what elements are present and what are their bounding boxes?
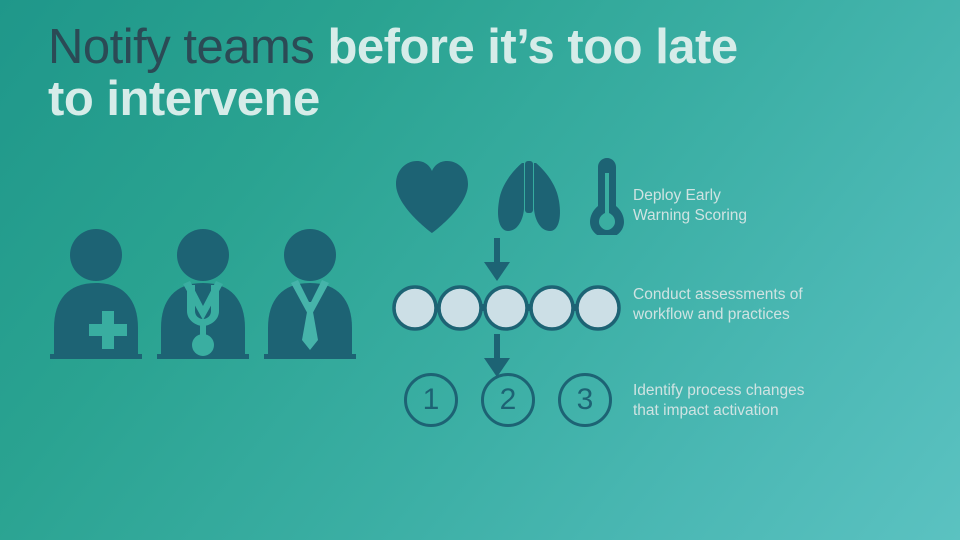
numbered-steps-row: 1 2 3 bbox=[390, 368, 618, 432]
dot-1 bbox=[394, 287, 436, 329]
dot-4 bbox=[531, 287, 573, 329]
care-team-illustration bbox=[48, 228, 358, 358]
person-nurse-icon bbox=[50, 229, 142, 359]
caption-identify-process-changes: Identify process changes that impact act… bbox=[633, 381, 933, 421]
dot-3 bbox=[485, 287, 527, 329]
title-segment-emphasis-dark: Notify teams bbox=[48, 20, 314, 74]
thermometer-icon bbox=[590, 158, 624, 235]
step-circle-3: 3 bbox=[558, 373, 612, 427]
step-circle-2: 2 bbox=[481, 373, 535, 427]
title-segment-emphasis-light: before it’s too late bbox=[327, 20, 737, 74]
step-circle-1: 1 bbox=[404, 373, 458, 427]
people-group-icon bbox=[48, 228, 358, 360]
caption-deploy-early-warning-scoring: Deploy Early Warning Scoring bbox=[633, 186, 933, 226]
person-doctor-icon bbox=[157, 229, 249, 359]
vitals-icon-set bbox=[390, 157, 630, 235]
caption-1-line-1: Deploy Early bbox=[633, 186, 933, 206]
dots-chain-icon bbox=[390, 282, 622, 334]
heart-icon bbox=[396, 161, 468, 233]
caption-3-line-2: that impact activation bbox=[633, 401, 933, 421]
lungs-icon bbox=[498, 161, 560, 231]
slide-canvas: Notify teams before it’s too late to int… bbox=[0, 0, 960, 540]
assessment-dots-row bbox=[390, 282, 618, 334]
person-admin-icon bbox=[264, 229, 356, 359]
caption-2-line-2: workflow and practices bbox=[633, 305, 933, 325]
vitals-icons-row bbox=[390, 160, 630, 232]
dot-2 bbox=[439, 287, 481, 329]
page-title: Notify teams before it’s too late to int… bbox=[48, 22, 848, 126]
caption-2-line-1: Conduct assessments of bbox=[633, 285, 933, 305]
dot-5 bbox=[577, 287, 619, 329]
title-line-1: Notify teams before it’s too late bbox=[48, 22, 848, 74]
caption-3-line-1: Identify process changes bbox=[633, 381, 933, 401]
title-line-2: to intervene bbox=[48, 74, 848, 126]
caption-conduct-assessments: Conduct assessments of workflow and prac… bbox=[633, 285, 933, 325]
arrow-down-icon-1 bbox=[482, 238, 512, 282]
caption-1-line-2: Warning Scoring bbox=[633, 206, 933, 226]
